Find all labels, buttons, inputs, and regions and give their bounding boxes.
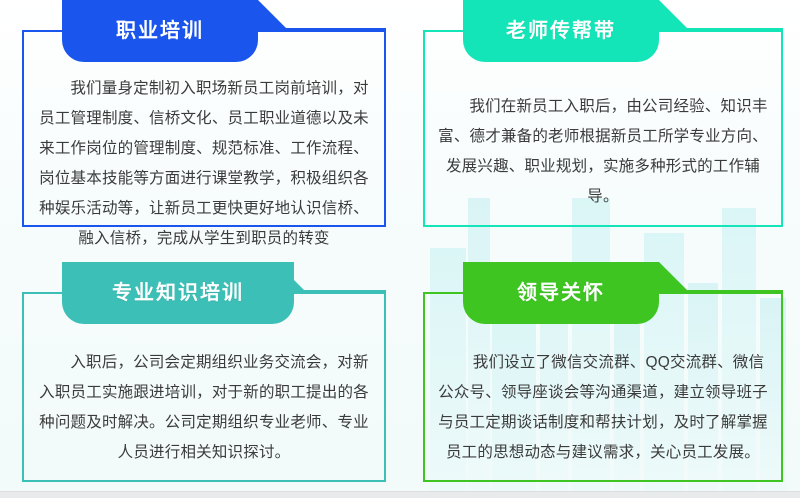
card-body-text: 入职后，公司会定期组织业务交流会，对新入职员工实施跟进培训，对于新的职工提出的各… — [36, 348, 372, 468]
card-header-ribbon: 专业知识培训 — [62, 262, 294, 324]
card-body-text: 我们在新员工入职后，由公司经验、知识丰富、德才兼备的老师根据新员工所学专业方向、… — [437, 92, 769, 212]
card-leadership-care: 领导关怀 我们设立了微信交流群、QQ交流群、微信公众号、领导座谈会等沟通渠道，建… — [423, 292, 783, 482]
ribbon-fold-triangle — [258, 0, 288, 30]
card-header-ribbon: 领导关怀 — [463, 262, 659, 324]
card-teacher-mentoring: 老师传帮带 我们在新员工入职后，由公司经验、知识丰富、德才兼备的老师根据新员工所… — [423, 30, 783, 227]
ribbon-fold-triangle — [659, 262, 689, 292]
card-grid: 职业培训 我们量身定制初入职场新员工岗前培训，对员工管理制度、信桥文化、员工职业… — [0, 0, 800, 492]
card-header-ribbon: 老师传帮带 — [463, 0, 659, 62]
card-title: 老师传帮带 — [506, 21, 616, 41]
ribbon-connector-bar — [659, 290, 783, 293]
ribbon-connector-bar — [258, 28, 386, 31]
card-title: 职业培训 — [116, 21, 204, 41]
card-body-text: 我们量身定制初入职场新员工岗前培训，对员工管理制度、信桥文化、员工职业道德以及未… — [36, 74, 372, 254]
card-professional-knowledge-training-frame: 专业知识培训 入职后，公司会定期组织业务交流会，对新入职员工实施跟进培训，对于新… — [22, 292, 386, 482]
bottom-strip — [0, 491, 800, 498]
card-header-ribbon: 职业培训 — [62, 0, 258, 62]
card-title: 领导关怀 — [517, 283, 605, 303]
card-title: 专业知识培训 — [112, 283, 244, 303]
card-vocational-training: 职业培训 我们量身定制初入职场新员工岗前培训，对员工管理制度、信桥文化、员工职业… — [22, 30, 386, 227]
card-body-text: 我们设立了微信交流群、QQ交流群、微信公众号、领导座谈会等沟通渠道，建立领导班子… — [437, 348, 769, 468]
ribbon-connector-bar — [659, 28, 783, 31]
ribbon-fold-triangle — [659, 0, 689, 30]
